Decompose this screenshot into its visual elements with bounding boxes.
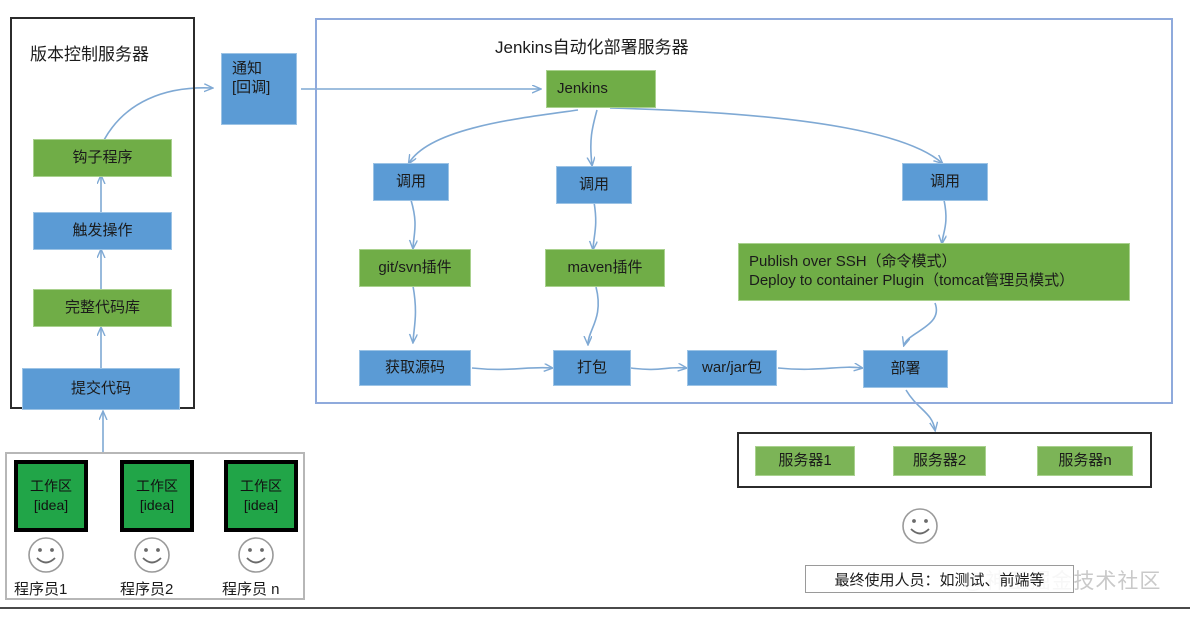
node-plugin-maven[interactable]: maven插件: [545, 249, 665, 287]
diagram-canvas: 版本控制服务器 钩子程序 触发操作 完整代码库 提交代码 通知 [回调] Jen…: [0, 0, 1190, 617]
workstation-box-label-2: 工作区 [idea]: [136, 477, 178, 515]
node-call-scm[interactable]: 调用: [373, 163, 449, 201]
node-server-n[interactable]: 服务器n: [1037, 446, 1133, 476]
node-jenkins[interactable]: Jenkins: [546, 70, 656, 108]
page-bottom-rule: [0, 607, 1190, 609]
node-full-repository[interactable]: 完整代码库: [33, 289, 172, 327]
node-hook-program[interactable]: 钩子程序: [33, 139, 172, 177]
programmer-avatar-1: [26, 535, 66, 575]
programmer-avatar-n: [236, 535, 276, 575]
programmer-label-2: 程序员2: [120, 578, 173, 599]
node-commit-code[interactable]: 提交代码: [22, 368, 180, 410]
programmer-label-n: 程序员 n: [222, 578, 280, 599]
workstation-box-2[interactable]: 工作区 [idea]: [120, 460, 194, 532]
workstation-box-label-n: 工作区 [idea]: [240, 477, 282, 515]
jenkins-panel: [315, 18, 1173, 404]
jenkins-panel-title: Jenkins自动化部署服务器: [495, 33, 689, 58]
deploy-plugin-line-1: Publish over SSH（命令模式）: [749, 253, 957, 272]
node-fetch-source[interactable]: 获取源码: [359, 350, 471, 386]
programmer-label-1: 程序员1: [14, 578, 67, 599]
version-control-panel-title: 版本控制服务器: [30, 40, 149, 65]
programmer-avatar-2: [132, 535, 172, 575]
node-deploy[interactable]: 部署: [863, 350, 948, 388]
node-call-maven[interactable]: 调用: [556, 166, 632, 204]
deploy-plugin-line-2: Deploy to container Plugin（tomcat管理员模式）: [749, 272, 1074, 291]
node-artifact-war-jar[interactable]: war/jar包: [687, 350, 777, 386]
node-server-1[interactable]: 服务器1: [755, 446, 855, 476]
node-trigger-action[interactable]: 触发操作: [33, 212, 172, 250]
node-notify-callback[interactable]: 通知 [回调]: [221, 53, 297, 125]
end-users-box: 最终使用人员：如测试、前端等: [805, 565, 1074, 593]
workstation-box-label-1: 工作区 [idea]: [30, 477, 72, 515]
node-server-2[interactable]: 服务器2: [893, 446, 986, 476]
node-call-deploy[interactable]: 调用: [902, 163, 988, 201]
workstation-box-1[interactable]: 工作区 [idea]: [14, 460, 88, 532]
node-package[interactable]: 打包: [553, 350, 631, 386]
end-user-avatar: [900, 506, 940, 546]
node-plugin-git-svn[interactable]: git/svn插件: [359, 249, 471, 287]
node-deploy-plugins[interactable]: Publish over SSH（命令模式） Deploy to contain…: [738, 243, 1130, 301]
workstation-box-n[interactable]: 工作区 [idea]: [224, 460, 298, 532]
